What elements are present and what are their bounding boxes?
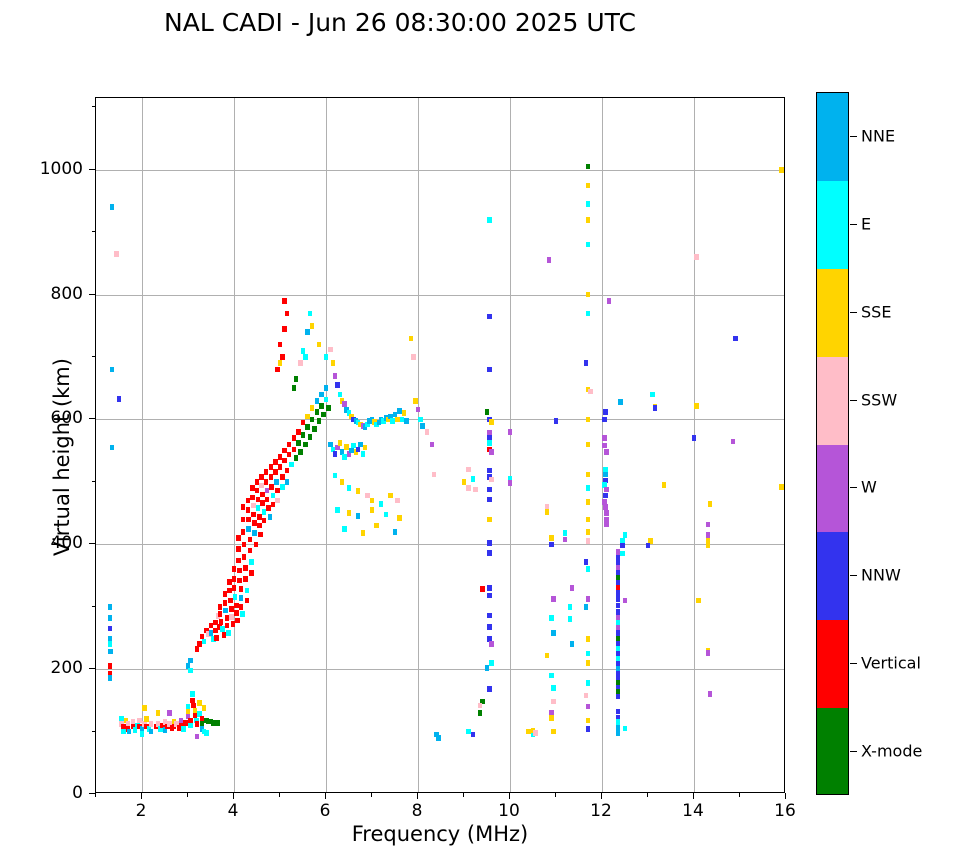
y-tick-label: 0 <box>10 783 83 803</box>
x-tick-label: 4 <box>228 801 239 821</box>
data-point <box>361 451 366 457</box>
data-point <box>586 566 591 572</box>
x-minor-tick-mark <box>371 793 372 797</box>
data-point <box>127 729 132 735</box>
colorbar-tick-mark <box>850 751 857 752</box>
ionogram-figure: NAL CADI - Jun 26 08:30:00 2025 UTC 2468… <box>0 0 958 857</box>
data-point <box>694 403 699 409</box>
data-point <box>195 646 200 652</box>
data-point <box>586 718 591 724</box>
data-point <box>108 675 113 681</box>
x-tick-mark <box>417 793 418 799</box>
data-point <box>563 530 568 536</box>
data-point <box>294 455 299 461</box>
scatter-data-layer <box>96 98 784 792</box>
data-point <box>315 409 320 415</box>
data-point <box>487 487 492 493</box>
data-point <box>551 630 556 636</box>
data-point <box>508 429 513 435</box>
data-point <box>402 410 407 416</box>
data-point <box>551 729 556 735</box>
data-point <box>249 559 254 565</box>
data-point <box>319 403 324 409</box>
x-tick-label: 2 <box>136 801 147 821</box>
data-point <box>232 576 237 582</box>
data-point <box>219 619 224 625</box>
data-point <box>356 488 361 494</box>
data-point <box>623 726 628 732</box>
data-point <box>251 512 256 518</box>
data-point <box>110 445 115 451</box>
data-point <box>418 417 423 423</box>
colorbar-label-sse: SSE <box>861 302 891 321</box>
data-point <box>586 660 591 666</box>
x-tick-label: 14 <box>682 801 704 821</box>
colorbar-segment-nne[interactable] <box>817 93 848 181</box>
data-point <box>388 493 393 499</box>
data-point <box>188 668 193 674</box>
data-point <box>202 639 207 645</box>
data-point <box>603 504 608 510</box>
colorbar-label-vertical: Vertical <box>861 654 921 673</box>
data-point <box>551 596 556 602</box>
data-point <box>586 636 591 642</box>
colorbar-tick-mark <box>850 663 857 664</box>
data-point <box>533 730 538 736</box>
data-point <box>234 610 239 616</box>
data-point <box>110 367 115 373</box>
data-point <box>586 201 591 207</box>
data-point <box>487 440 492 446</box>
data-point <box>324 397 329 403</box>
data-point <box>603 493 608 499</box>
data-point <box>114 251 119 257</box>
data-point <box>356 513 361 519</box>
x-tick-mark <box>509 793 510 799</box>
data-point <box>242 554 247 560</box>
data-point <box>620 543 625 549</box>
x-minor-tick-mark <box>187 793 188 797</box>
data-point <box>303 354 308 360</box>
data-point <box>317 342 322 348</box>
data-point <box>584 604 589 610</box>
data-point <box>223 600 228 606</box>
data-point <box>188 723 193 729</box>
data-point <box>731 439 736 445</box>
data-point <box>246 507 251 513</box>
data-point <box>285 468 290 474</box>
data-point <box>252 530 257 536</box>
data-point <box>308 434 313 440</box>
data-point <box>603 472 608 478</box>
data-point <box>285 479 290 485</box>
y-tick-mark <box>89 294 95 295</box>
data-point <box>570 641 575 647</box>
data-point <box>489 641 494 647</box>
x-tick-mark <box>601 793 602 799</box>
data-point <box>586 164 591 170</box>
y-tick-mark <box>89 418 95 419</box>
data-point <box>586 517 591 523</box>
data-point <box>338 440 343 446</box>
data-point <box>236 558 241 564</box>
data-point <box>487 613 492 619</box>
data-point <box>650 392 655 398</box>
data-point <box>340 479 345 485</box>
data-point <box>331 360 336 366</box>
y-tick-mark <box>89 169 95 170</box>
data-point <box>692 435 697 441</box>
data-point <box>233 594 238 600</box>
x-tick-mark <box>325 793 326 799</box>
data-point <box>269 474 274 480</box>
data-point <box>347 510 352 516</box>
data-point <box>602 443 607 449</box>
data-point <box>584 693 589 699</box>
y-minor-tick-mark <box>92 356 96 357</box>
data-point <box>239 586 244 592</box>
data-point <box>310 323 315 329</box>
data-point <box>411 354 416 360</box>
data-point <box>225 623 230 629</box>
data-point <box>397 515 402 521</box>
data-point <box>275 367 280 373</box>
data-point <box>140 731 145 737</box>
data-point <box>478 703 483 709</box>
data-point <box>226 630 231 636</box>
data-point <box>338 392 343 398</box>
data-point <box>324 385 329 391</box>
data-point <box>487 624 492 630</box>
data-point <box>274 479 279 485</box>
data-point <box>471 732 476 738</box>
data-point <box>487 593 492 599</box>
colorbar-tick-mark <box>850 400 857 401</box>
data-point <box>282 326 287 332</box>
data-point <box>181 726 186 732</box>
data-point <box>549 673 554 679</box>
data-point <box>258 532 263 538</box>
data-point <box>317 418 322 424</box>
data-point <box>549 542 554 548</box>
data-point <box>156 710 161 716</box>
colorbar-tick-mark <box>850 136 857 137</box>
x-tick-label: 6 <box>320 801 331 821</box>
data-point <box>466 467 471 473</box>
x-tick-label: 16 <box>774 801 796 821</box>
data-point <box>282 458 287 464</box>
x-tick-label: 12 <box>590 801 612 821</box>
data-point <box>604 522 609 528</box>
data-point <box>646 543 651 549</box>
data-point <box>430 442 435 448</box>
data-point <box>653 405 658 411</box>
colorbar-tick-mark <box>850 575 857 576</box>
data-point <box>347 485 352 491</box>
data-point <box>404 418 409 424</box>
data-point <box>235 618 240 624</box>
data-point <box>487 540 492 546</box>
data-point <box>333 473 338 479</box>
data-point <box>586 217 591 223</box>
colorbar-segment-e[interactable] <box>817 181 848 269</box>
data-point <box>108 615 113 621</box>
data-point <box>292 385 297 391</box>
data-point <box>602 435 607 441</box>
data-point <box>268 514 273 520</box>
data-point <box>246 526 251 532</box>
data-point <box>395 498 400 504</box>
data-point <box>108 641 113 647</box>
data-point <box>708 501 713 507</box>
data-point <box>292 447 297 453</box>
data-point <box>489 449 494 455</box>
data-point <box>586 704 591 710</box>
colorbar-segment-nnw[interactable] <box>817 532 848 620</box>
data-point <box>312 426 317 432</box>
colorbar-label-e: E <box>861 214 871 233</box>
data-point <box>108 649 113 655</box>
data-point <box>108 626 113 632</box>
data-point <box>586 485 591 491</box>
data-point <box>586 680 591 686</box>
data-point <box>616 603 621 609</box>
data-point <box>420 423 425 429</box>
data-point <box>584 360 589 366</box>
y-minor-tick-mark <box>92 481 96 482</box>
x-minor-tick-mark <box>463 793 464 797</box>
colorbar-label-nnw: NNW <box>861 566 901 585</box>
data-point <box>487 550 492 556</box>
data-point <box>262 518 267 524</box>
data-point <box>301 432 306 438</box>
data-point <box>248 537 253 543</box>
data-point <box>549 535 554 541</box>
data-point <box>487 497 492 503</box>
data-point <box>616 630 621 636</box>
data-point <box>333 451 338 457</box>
colorbar-segment-sse[interactable] <box>817 269 848 357</box>
data-point <box>237 578 242 584</box>
data-point <box>466 485 471 491</box>
data-point <box>487 367 492 373</box>
data-point <box>436 735 441 741</box>
data-point <box>586 311 591 317</box>
data-point <box>250 495 255 501</box>
colorbar-label-x-mode: X-mode <box>861 742 922 761</box>
data-point <box>342 526 347 532</box>
data-point <box>249 570 254 576</box>
data-point <box>568 604 573 610</box>
data-point <box>280 484 285 490</box>
data-point <box>586 242 591 248</box>
data-point <box>604 487 609 493</box>
data-point <box>706 543 711 549</box>
data-point <box>370 498 375 504</box>
data-point <box>584 559 589 565</box>
data-point <box>616 596 621 602</box>
data-point <box>487 217 492 223</box>
data-point <box>708 691 713 697</box>
data-point <box>285 311 290 317</box>
data-point <box>236 535 241 541</box>
data-point <box>255 488 260 494</box>
data-point <box>696 598 701 604</box>
x-tick-mark <box>785 793 786 799</box>
data-point <box>471 476 476 482</box>
data-point <box>280 354 285 360</box>
data-point <box>694 254 699 260</box>
y-minor-tick-mark <box>92 231 96 232</box>
data-point <box>586 442 591 448</box>
x-minor-tick-mark <box>555 793 556 797</box>
data-point <box>278 464 283 470</box>
data-point <box>616 590 621 596</box>
figure-title: NAL CADI - Jun 26 08:30:00 2025 UTC <box>0 8 800 37</box>
data-point <box>586 596 591 602</box>
data-point <box>223 608 228 614</box>
colorbar-segment-x-mode[interactable] <box>817 708 848 795</box>
data-point <box>489 419 494 425</box>
data-point <box>478 710 483 716</box>
data-point <box>607 298 612 304</box>
data-point <box>278 342 283 348</box>
colorbar-tick-mark <box>850 487 857 488</box>
data-point <box>335 382 340 388</box>
data-point <box>328 347 333 353</box>
data-point <box>487 585 492 591</box>
data-point <box>432 472 437 478</box>
x-tick-mark <box>141 793 142 799</box>
data-point <box>275 498 280 504</box>
data-point <box>204 730 209 736</box>
data-point <box>232 585 237 591</box>
data-point <box>335 507 340 513</box>
data-point <box>485 409 490 415</box>
data-point <box>779 167 784 173</box>
data-point <box>616 709 621 715</box>
data-point <box>240 611 245 617</box>
colorbar-label-ssw: SSW <box>861 390 897 409</box>
colorbar-segment-ssw[interactable] <box>817 357 848 445</box>
data-point <box>549 715 554 721</box>
data-point <box>508 480 513 486</box>
data-point <box>298 360 303 366</box>
data-point <box>551 699 556 705</box>
data-point <box>586 529 591 535</box>
data-point <box>167 710 172 716</box>
data-point <box>586 499 591 505</box>
data-point <box>310 417 315 423</box>
data-point <box>586 292 591 298</box>
data-point <box>333 373 338 379</box>
data-point <box>547 257 552 263</box>
y-minor-tick-mark <box>92 606 96 607</box>
data-point <box>487 517 492 523</box>
data-point <box>242 542 247 548</box>
data-point <box>246 517 251 523</box>
data-point <box>305 424 310 430</box>
x-tick-mark <box>233 793 234 799</box>
data-point <box>487 314 492 320</box>
y-tick-mark <box>89 543 95 544</box>
data-point <box>586 538 591 544</box>
data-point <box>243 565 248 571</box>
plot-area[interactable] <box>95 97 785 793</box>
data-point <box>384 512 389 518</box>
data-point <box>370 507 375 513</box>
y-minor-tick-mark <box>92 106 96 107</box>
data-point <box>545 509 550 515</box>
data-point <box>142 705 147 711</box>
data-point <box>616 694 621 700</box>
data-point <box>779 484 784 490</box>
data-point <box>214 635 219 641</box>
data-point <box>616 609 621 615</box>
data-point <box>289 462 294 468</box>
data-point <box>549 615 554 621</box>
data-point <box>602 417 607 423</box>
data-point <box>570 585 575 591</box>
data-point <box>264 479 269 485</box>
y-minor-tick-mark <box>92 731 96 732</box>
data-point <box>551 685 556 691</box>
data-point <box>257 523 262 529</box>
data-point <box>618 399 623 405</box>
x-minor-tick-mark <box>279 793 280 797</box>
data-point <box>588 389 593 395</box>
data-point <box>273 469 278 475</box>
colorbar-segment-w[interactable] <box>817 445 848 533</box>
x-tick-label: 10 <box>498 801 520 821</box>
x-minor-tick-mark <box>739 793 740 797</box>
data-point <box>489 477 494 483</box>
colorbar-tick-mark <box>850 224 857 225</box>
data-point <box>321 412 326 418</box>
colorbar[interactable] <box>816 92 849 795</box>
data-point <box>294 376 299 382</box>
data-point <box>586 417 591 423</box>
data-point <box>245 588 250 594</box>
data-point <box>409 336 414 342</box>
data-point <box>218 611 223 617</box>
data-point <box>616 730 621 736</box>
data-point <box>237 568 242 574</box>
data-point <box>480 586 485 592</box>
data-point <box>568 616 573 622</box>
data-point <box>462 479 467 485</box>
colorbar-segment-vertical[interactable] <box>817 620 848 708</box>
colorbar-label-w: W <box>861 478 877 497</box>
data-point <box>489 660 494 666</box>
data-point <box>241 517 246 523</box>
data-point <box>413 398 418 404</box>
data-point <box>241 529 246 535</box>
data-point <box>425 429 430 435</box>
data-point <box>287 452 292 458</box>
x-minor-tick-mark <box>647 793 648 797</box>
data-point <box>416 407 421 413</box>
data-point <box>563 537 568 543</box>
data-point <box>473 487 478 493</box>
data-point <box>149 729 154 735</box>
data-point <box>282 298 287 304</box>
data-point <box>236 546 241 552</box>
y-tick-label: 1000 <box>10 159 83 179</box>
data-point <box>239 604 244 610</box>
data-point <box>108 604 113 610</box>
y-tick-mark <box>89 793 95 794</box>
